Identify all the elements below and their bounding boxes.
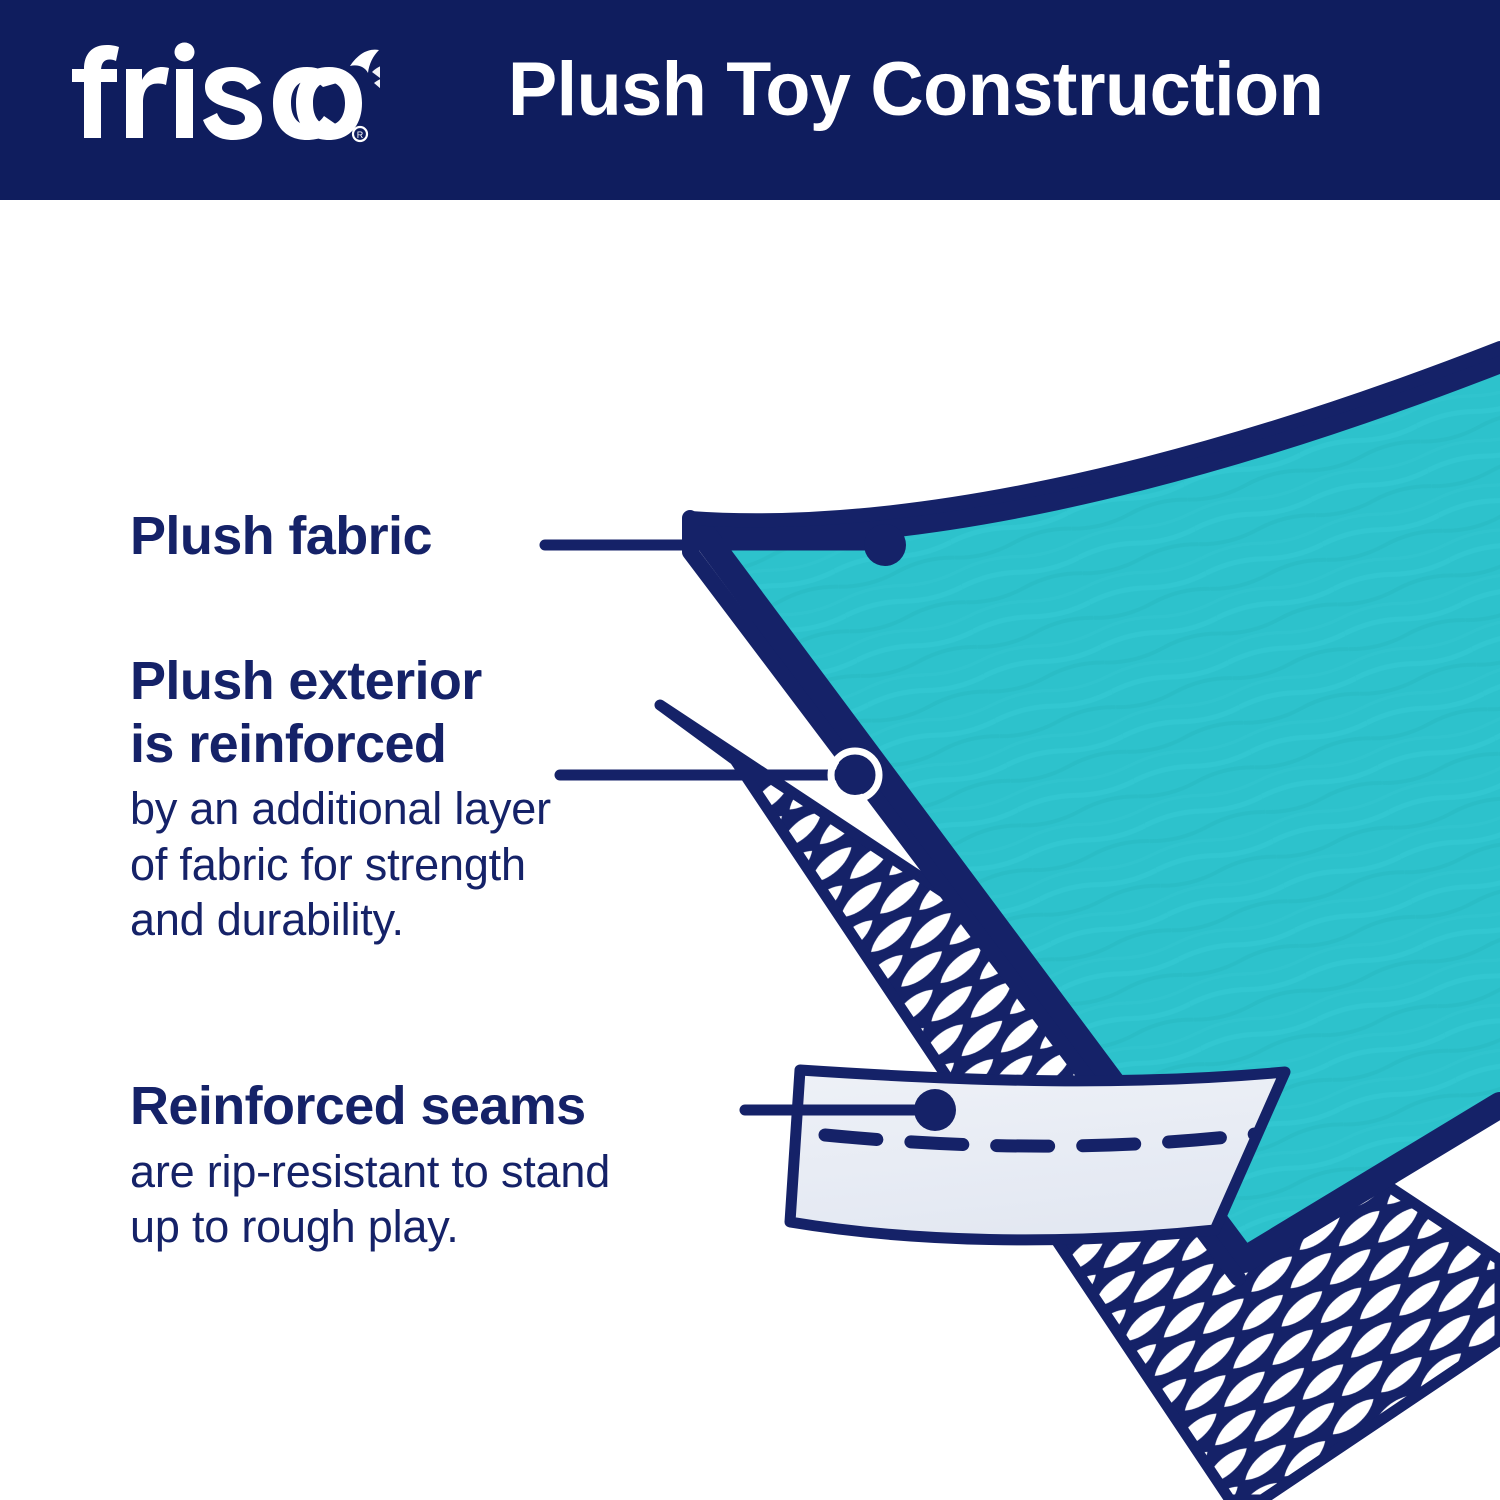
callout-body-plush-exterior: by an additional layer of fabric for str… (130, 781, 551, 947)
page-title: Plush Toy Construction (508, 46, 1323, 133)
callout-plush-fabric: Plush fabric (130, 505, 432, 568)
leader-dot-plush-fabric (864, 524, 906, 566)
callout-reinforced-seams: Reinforced seams are rip-resistant to st… (130, 1075, 610, 1254)
callout-headline-plush-fabric: Plush fabric (130, 505, 432, 568)
callout-headline-reinforced-seams: Reinforced seams (130, 1075, 610, 1138)
callout-body-reinforced-seams: are rip-resistant to stand up to rough p… (130, 1144, 610, 1255)
infographic-page: R Plush Toy Construction (0, 0, 1500, 1500)
header-bar: R Plush Toy Construction (0, 0, 1500, 200)
callout-headline-plush-exterior: Plush exterior is reinforced (130, 650, 551, 775)
leader-dot-plush-exterior (835, 755, 875, 795)
svg-text:R: R (357, 130, 364, 140)
reinforced-seam-flap (790, 1070, 1285, 1240)
leader-dot-reinforced-seams (914, 1089, 956, 1131)
frisco-logo: R (70, 42, 380, 152)
callout-plush-exterior: Plush exterior is reinforced by an addit… (130, 650, 551, 947)
